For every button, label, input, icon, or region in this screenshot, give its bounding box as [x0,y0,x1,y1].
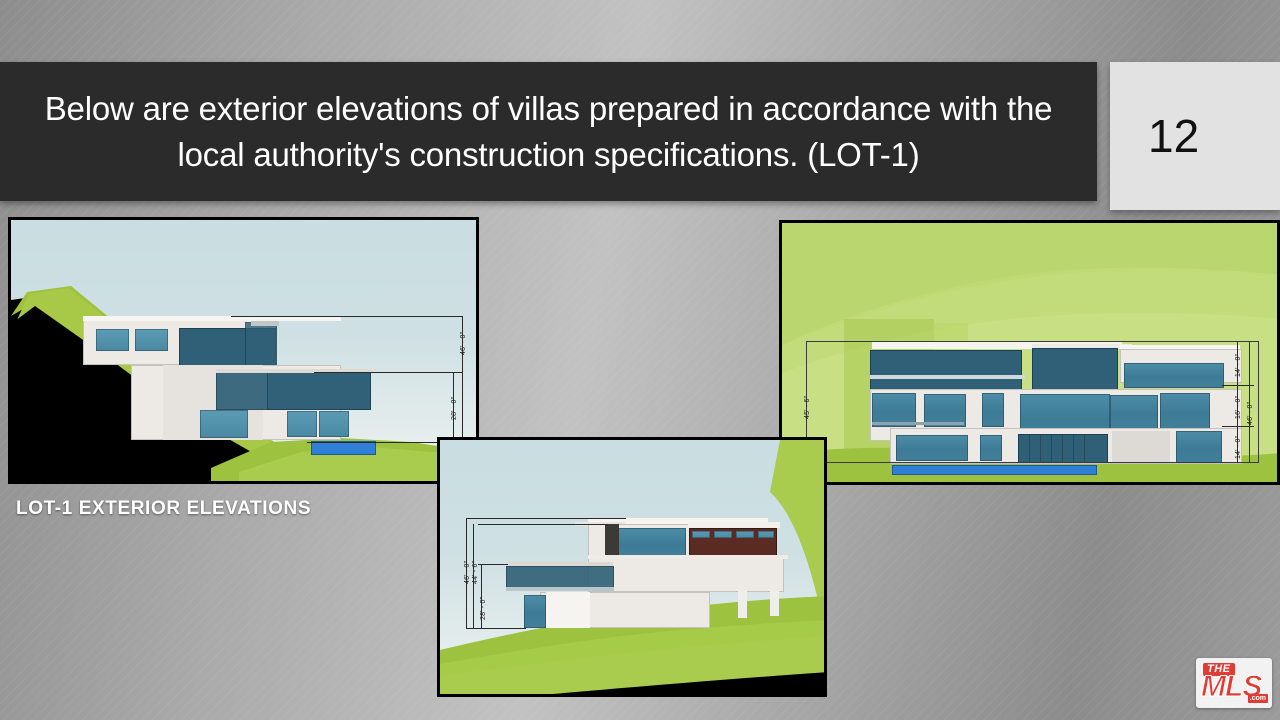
elevation-image-center[interactable]: 46' - 0" 44' - 6" 28' - 0" [437,437,827,697]
slide-number-box: 12 [1110,62,1280,210]
dimension-label-left-2: 28' - 0" [451,397,458,420]
dimension-label-right-2: 14' - 0" [1235,354,1242,377]
elevation-image-left[interactable]: 46' - 0" 28' - 0" [8,217,479,484]
caption-label: LOT-1 EXTERIOR ELEVATIONS [16,498,311,520]
mls-com-label: .com [1248,694,1268,703]
elevation-image-right[interactable]: 45' - 6" 14' - 0" 16' - 0" 46' - 0" 14' … [779,220,1280,485]
slide-number: 12 [1110,109,1199,163]
dimension-label-right-5: 14' - 0" [1235,436,1242,459]
page-title: Below are exterior elevations of villas … [0,86,1097,177]
dimension-label-center-1: 46' - 0" [464,561,471,584]
slide-canvas: Below are exterior elevations of villas … [0,0,1280,720]
title-bar: Below are exterior elevations of villas … [0,62,1097,201]
mls-logo: THE MLS .com [1196,658,1272,708]
dimension-label-center-3: 28' - 0" [480,597,487,620]
dimension-label-right-3: 16' - 0" [1235,396,1242,419]
dimension-label-right-1: 45' - 6" [804,396,811,419]
dimension-label-center-2: 44' - 6" [472,561,479,584]
dimension-label-right-4: 46' - 0" [1247,402,1254,425]
dimension-label-left-1: 46' - 0" [460,332,467,355]
